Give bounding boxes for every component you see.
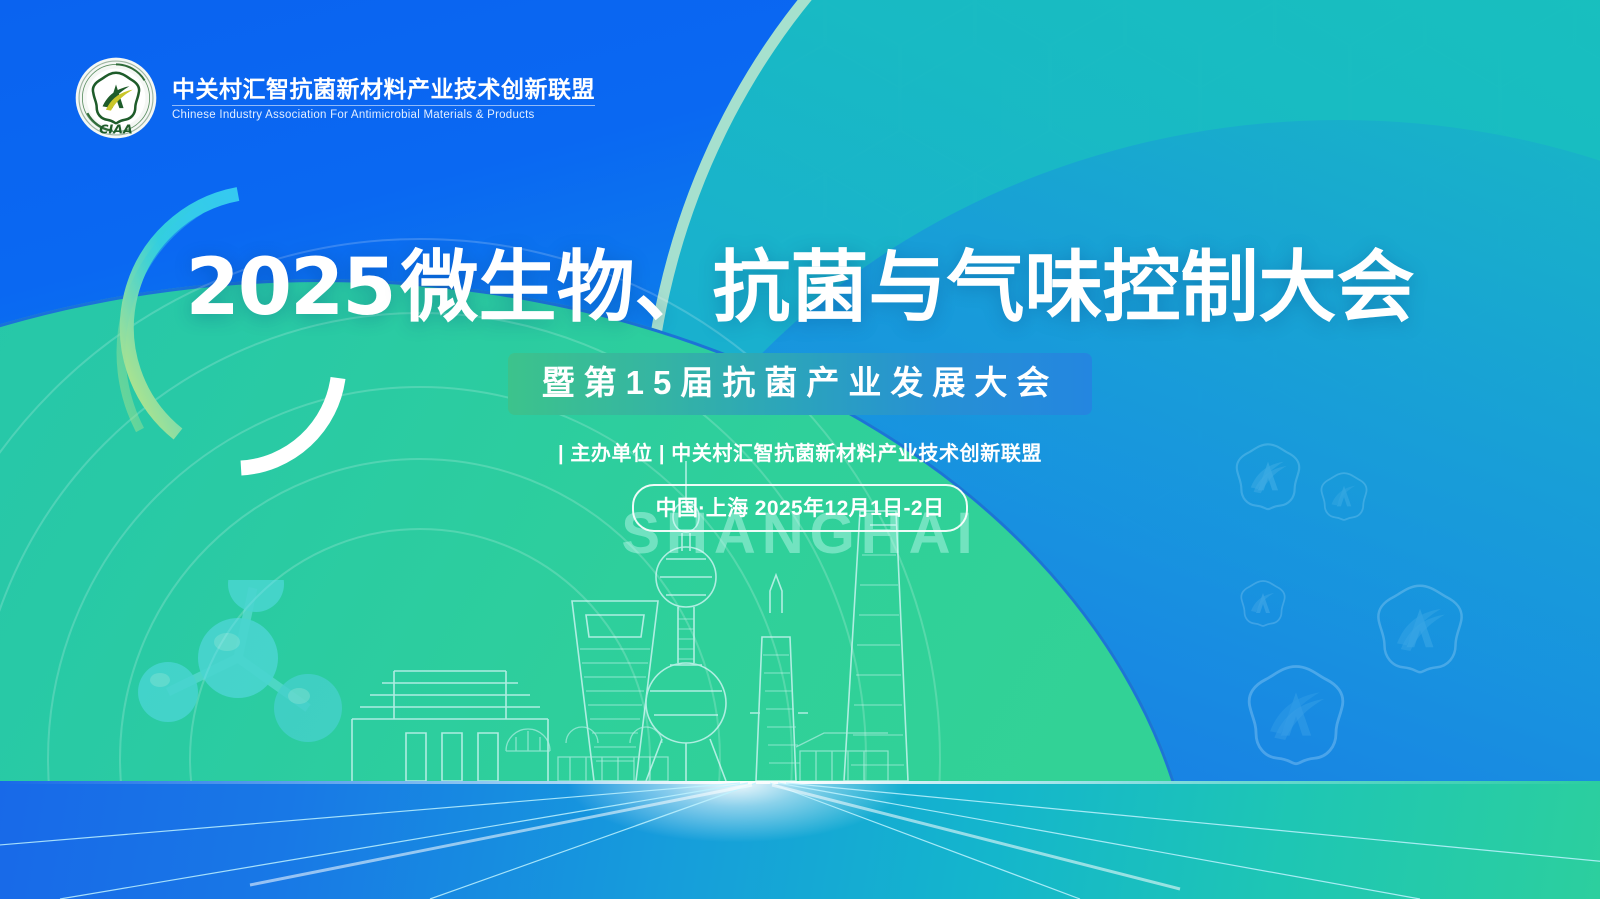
ciaa-star-badge-icon bbox=[1242, 660, 1350, 768]
org-name-en: Chinese Industry Association For Antimic… bbox=[172, 109, 595, 123]
brand-header: CIAA 中关村汇智抗菌新材料产业技术创新联盟 Chinese Industry… bbox=[74, 56, 595, 140]
title-block: 2025微生物、抗菌与气味控制大会 暨第15届抗菌产业发展大会 | 主办单位 |… bbox=[0, 248, 1600, 532]
ciaa-star-badge-icon bbox=[1238, 578, 1288, 628]
logo-acronym: CIAA bbox=[99, 121, 132, 136]
page-title: 2025微生物、抗菌与气味控制大会 bbox=[0, 248, 1600, 327]
org-name-cn: 中关村汇智抗菌新材料产业技术创新联盟 bbox=[172, 77, 595, 103]
organizer-line: | 主办单位 | 中关村汇智抗菌新材料产业技术创新联盟 bbox=[0, 437, 1600, 466]
conference-poster: SHANGHAI bbox=[0, 0, 1600, 899]
bottom-road-band bbox=[0, 781, 1600, 899]
subtitle-bar: 暨第15届抗菌产业发展大会 bbox=[508, 353, 1093, 415]
date-location-badge: 中国·上海 2025年12月1日-2日 bbox=[632, 484, 969, 532]
road-rays bbox=[0, 781, 1600, 899]
org-name-block: 中关村汇智抗菌新材料产业技术创新联盟 Chinese Industry Asso… bbox=[172, 73, 595, 124]
title-main-text: 微生物、抗菌与气味控制大会 bbox=[401, 243, 1415, 331]
ciaa-circular-emblem-icon: CIAA bbox=[74, 56, 158, 140]
org-divider bbox=[172, 105, 595, 106]
title-year: 2025 bbox=[185, 243, 394, 333]
ciaa-star-badge-icon bbox=[1372, 580, 1468, 676]
